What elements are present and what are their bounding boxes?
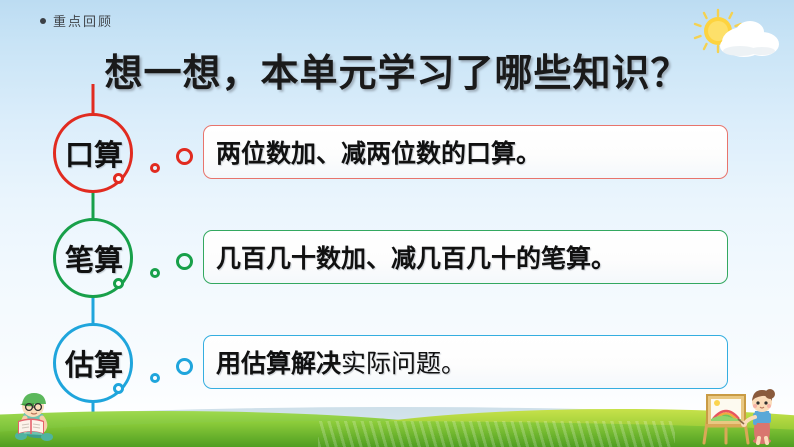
connector-bead-medium-icon [176,253,193,270]
slide-canvas: 重点回顾 想一想，本单元学习了哪些知识？ 口算 两位数加、减两位数的口算。 笔算… [0,0,794,447]
knowledge-row: 笔算 几百几十数加、减几百几十的笔算。 [0,218,794,298]
ground-scenery [0,399,794,447]
page-title: 想一想，本单元学习了哪些知识？ [0,42,794,97]
girl-painting-easel-illustration [698,389,784,445]
bullet-dot-icon [40,18,46,24]
connector-bead-medium-icon [176,358,193,375]
boy-reading-book-illustration [6,391,72,445]
callout-text: 用估算解决实际问题。 [216,344,466,380]
kicker-label: 重点回顾 [53,11,113,30]
connector-bead-small-icon [150,163,160,173]
node-label-kousuan: 口算 [50,113,138,193]
callout-box-gusuan[interactable]: 用估算解决实际问题。 [203,335,728,389]
knowledge-row: 估算 用估算解决实际问题。 [0,323,794,403]
node-bead-icon [113,173,124,184]
callout-box-bisuan[interactable]: 几百几十数加、减几百几十的笔算。 [203,230,728,284]
callout-text: 几百几十数加、减几百几十的笔算。 [216,239,616,275]
grass-stripes [318,421,675,447]
connector-bead-small-icon [150,373,160,383]
node-bead-icon [113,278,124,289]
node-label-bisuan: 笔算 [50,218,138,298]
callout-box-kousuan[interactable]: 两位数加、减两位数的口算。 [203,125,728,179]
connector-bead-small-icon [150,268,160,278]
node-bead-icon [113,383,124,394]
kicker: 重点回顾 [40,11,113,30]
connector-bead-medium-icon [176,148,193,165]
knowledge-row: 口算 两位数加、减两位数的口算。 [0,113,794,193]
callout-text: 两位数加、减两位数的口算。 [216,134,541,170]
